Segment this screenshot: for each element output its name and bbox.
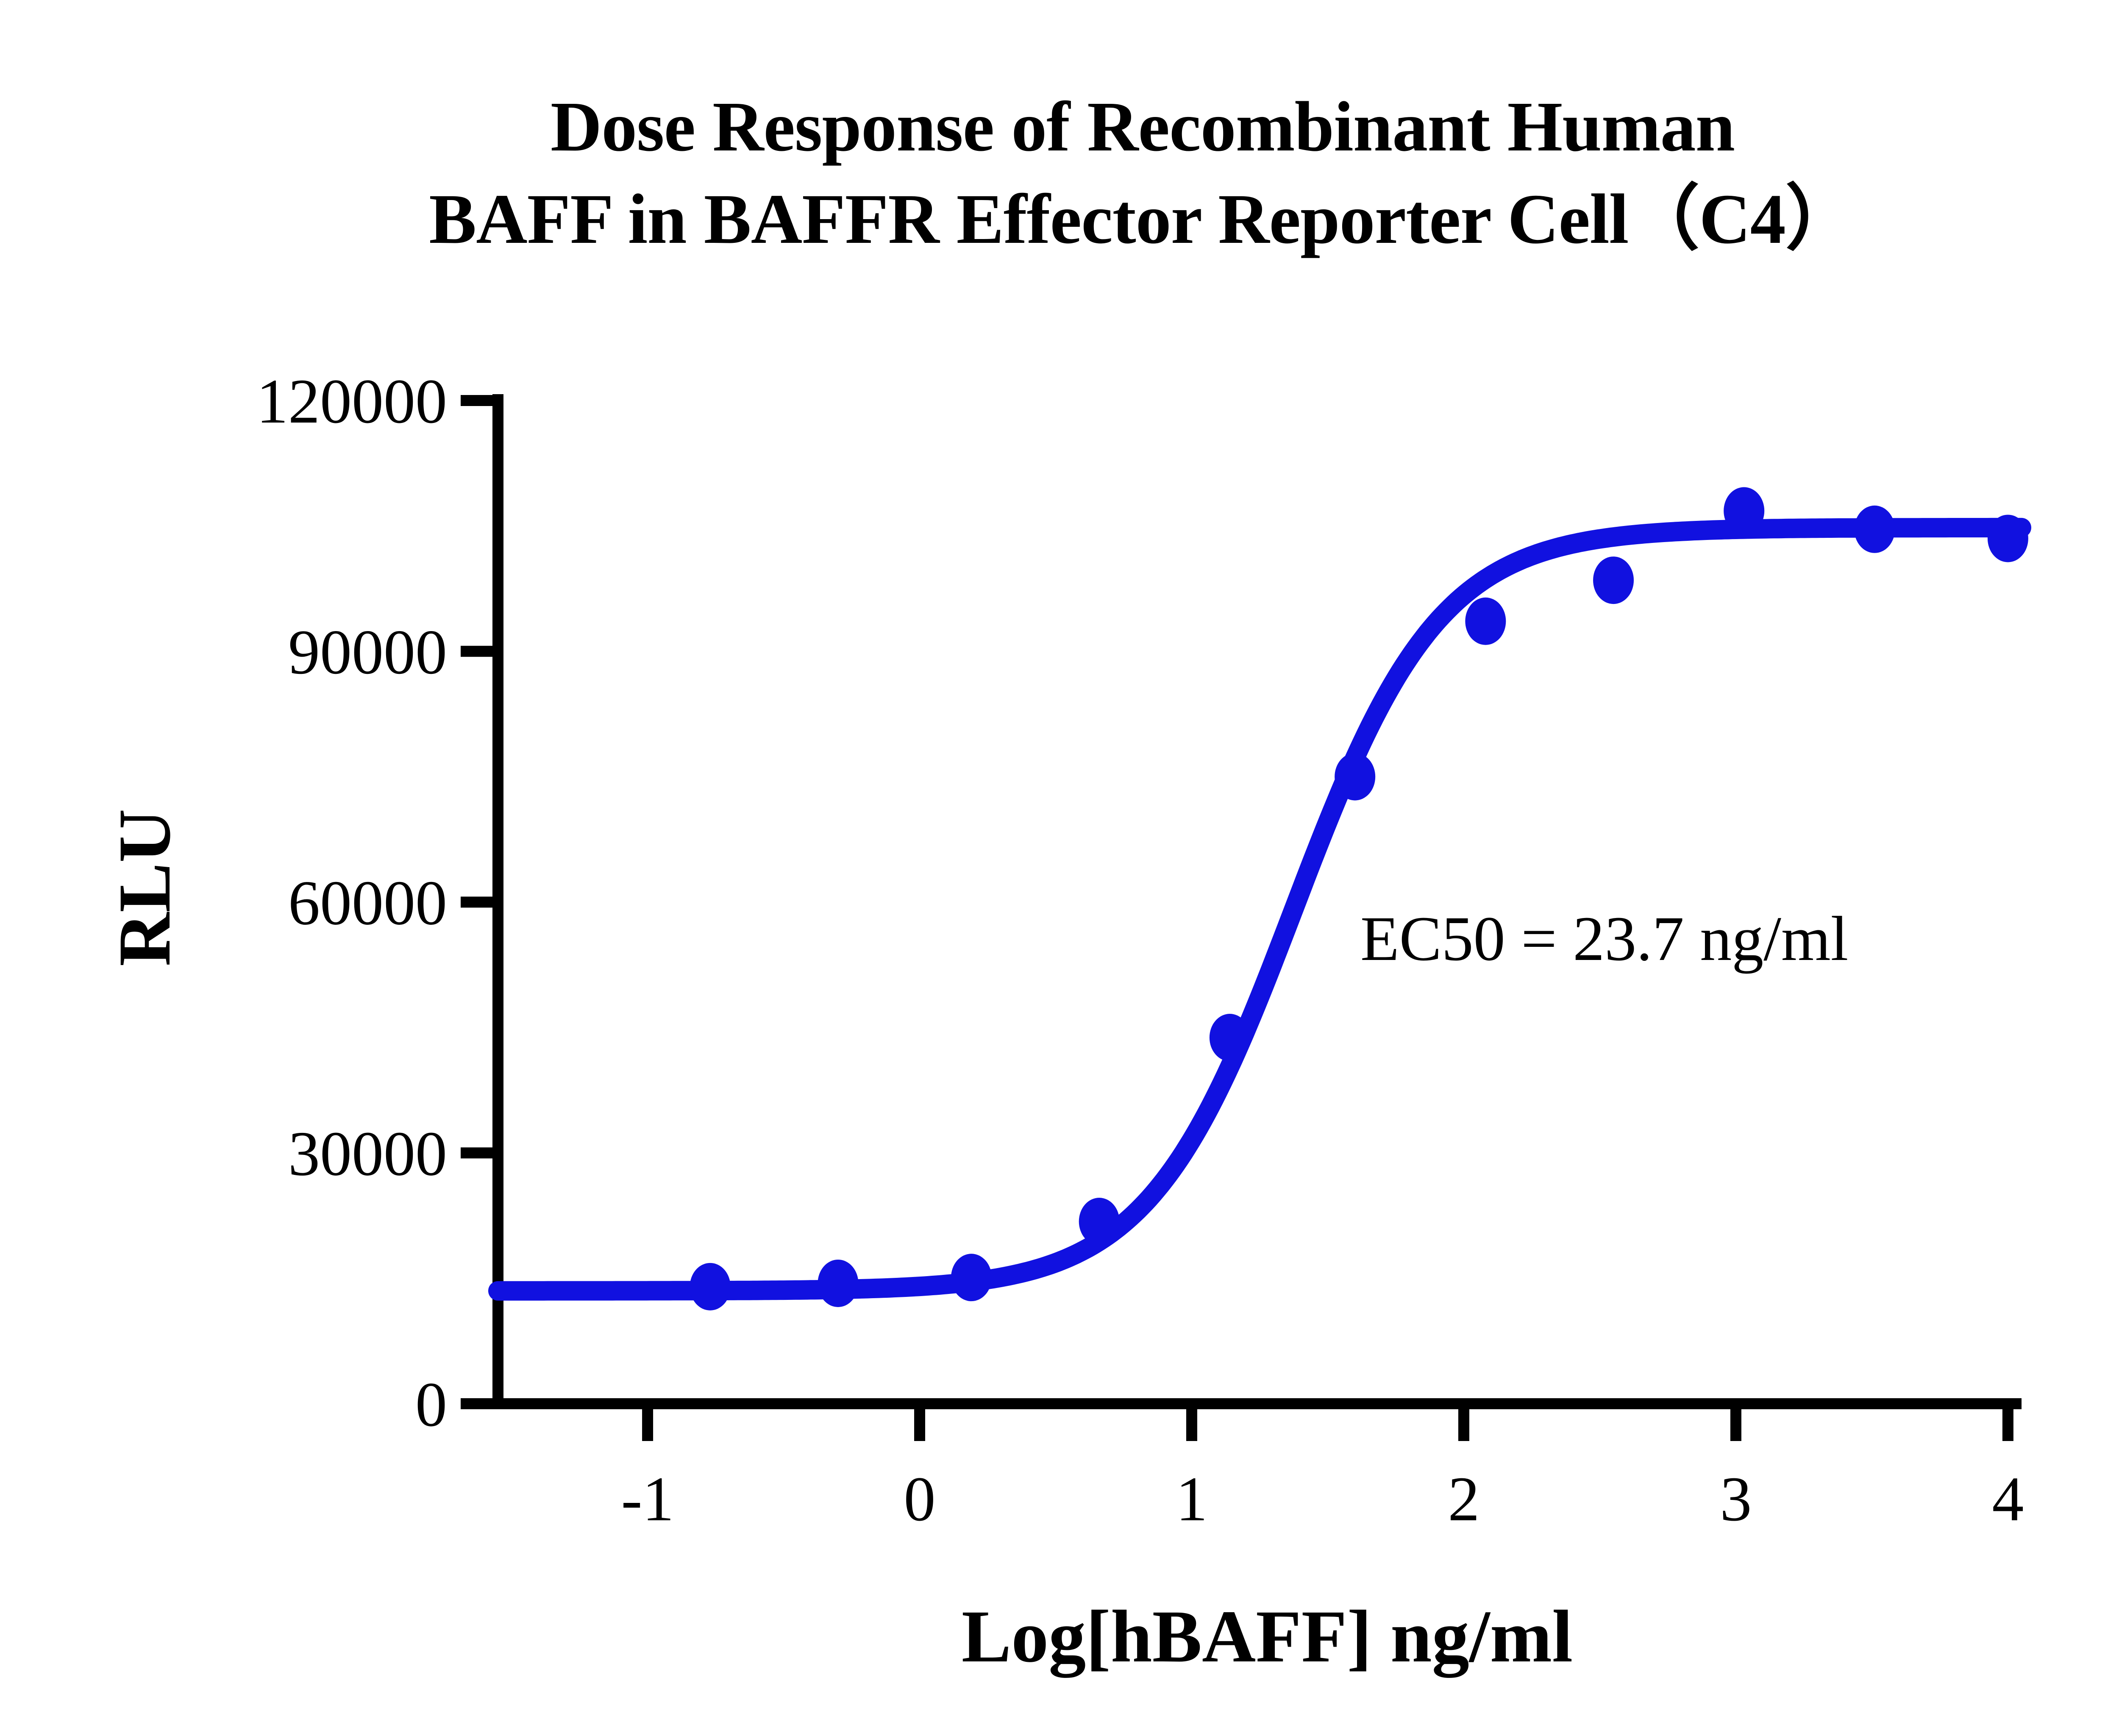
ec50-annotation: EC50 = 23.7 ng/ml (1360, 904, 1848, 974)
data-point-marker (818, 1260, 858, 1307)
y-tick-label: 30000 (288, 1118, 447, 1189)
x-axis-ticks (648, 1404, 2008, 1441)
data-point-markers (690, 487, 2028, 1310)
data-point-marker (690, 1263, 731, 1310)
data-point-marker (1335, 753, 1375, 801)
data-point-marker (951, 1254, 992, 1301)
x-tick-label: 3 (1720, 1464, 1752, 1534)
y-tick-label: 60000 (288, 868, 447, 938)
data-point-marker (1854, 506, 1895, 553)
x-axis-title: Log[hBAFF] ng/ml (962, 1595, 1573, 1678)
x-tick-label: 4 (1992, 1464, 2024, 1534)
data-point-marker (1465, 598, 1506, 645)
x-tick-label: 1 (1176, 1464, 1208, 1534)
data-point-marker (1079, 1198, 1120, 1245)
y-axis-tick-labels: 0300006000090000120000 (256, 366, 447, 1440)
data-point-marker (1724, 487, 1764, 534)
data-point-marker (1210, 1014, 1250, 1061)
y-tick-label: 0 (415, 1369, 447, 1440)
y-tick-label: 120000 (256, 366, 447, 437)
data-point-marker (1593, 556, 1634, 604)
data-point-marker (1988, 515, 2028, 562)
x-tick-label: -1 (621, 1464, 674, 1534)
plot-area: 0300006000090000120000 -101234 RLU Log[h… (0, 0, 2119, 1736)
x-axis-tick-labels: -101234 (621, 1464, 2024, 1534)
x-tick-label: 0 (904, 1464, 936, 1534)
x-tick-label: 2 (1448, 1464, 1479, 1534)
y-axis-title: RLU (103, 809, 186, 966)
y-tick-label: 90000 (288, 617, 447, 687)
chart-figure: Dose Response of Recombinant Human BAFF … (0, 0, 2119, 1736)
y-axis-ticks (461, 401, 498, 1404)
